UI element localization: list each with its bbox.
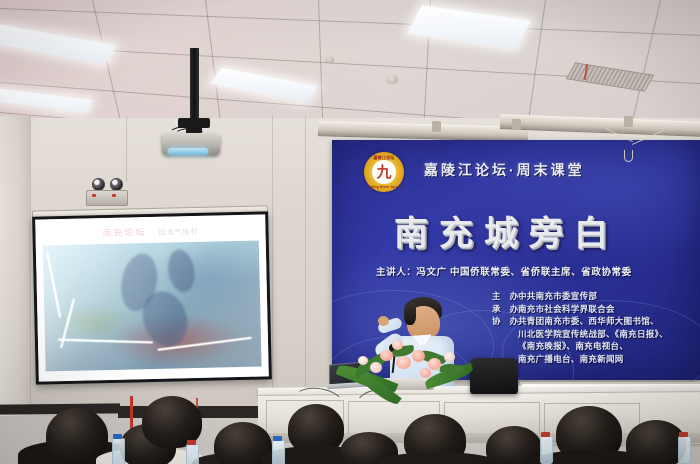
road-line <box>46 253 61 318</box>
wall-column <box>0 116 30 416</box>
slide: 南充论坛回龙气候村 <box>35 214 269 381</box>
water-bottle[interactable] <box>112 438 125 464</box>
banner-speaker-line: 主讲人：冯文广 中国侨联常委、省侨联主席、省政协常委 <box>376 264 632 278</box>
speaker-hair-side <box>404 303 416 325</box>
logo-arc-bottom: Jialing River forum <box>364 185 404 189</box>
wall-seam <box>272 116 273 416</box>
banner-header-line: 嘉陵江论坛·周末课堂 <box>424 160 585 180</box>
flower-bloom <box>392 340 403 350</box>
emergency-indicator <box>112 194 116 197</box>
organizer-row: 协 办：共青团南充市委、西华师大图书馆、 <box>492 315 668 328</box>
banner-hook <box>624 150 633 162</box>
slide-title-text: 南充论坛 <box>102 227 146 238</box>
track-bracket <box>432 121 441 132</box>
banner-organizers: 主 办：中共南充市委宣传部 承 办：南充市社会科学界联合会 协 办：共青团南充市… <box>492 290 668 365</box>
sprinkler-head <box>325 56 334 63</box>
lecture-hall-photo: 南充论坛回龙气候村 嘉陵江论坛 <box>0 0 700 464</box>
forum-logo: 嘉陵江论坛 九 Jialing River forum <box>364 152 404 192</box>
wall-seam <box>126 116 127 182</box>
flower-bloom <box>380 350 393 361</box>
road-line <box>58 339 153 344</box>
organizer-value: 共青团南充市委、西华师大图书馆、 <box>518 316 659 326</box>
flower-bloom <box>412 350 425 362</box>
water-bottle[interactable] <box>272 440 285 464</box>
speaker-hand <box>378 316 389 326</box>
sprinkler-head <box>386 75 398 84</box>
bottle-cap <box>113 434 122 439</box>
organizer-row: 主 办：中共南充市委宣传部 <box>492 290 668 303</box>
bottle-cap <box>187 440 196 445</box>
audience-head <box>626 420 686 464</box>
bottle-cap <box>273 436 282 441</box>
organizer-row: 承 办：南充市社会科学界联合会 <box>492 303 668 316</box>
organizer-continued-row: 《南充晚报》、南充电视台、 <box>492 340 668 353</box>
river-shape <box>165 248 198 295</box>
bottle-cap <box>679 432 688 437</box>
flower-bloom <box>444 352 455 362</box>
organizer-label: 主 办： <box>492 290 518 303</box>
emergency-indicator <box>92 194 96 197</box>
organizer-label: 协 办： <box>492 315 518 328</box>
flower-bloom <box>420 368 431 378</box>
flower-bloom <box>428 358 441 370</box>
organizer-continued-row: 川北医学院宣传统战部、《南充日报》、 <box>492 328 668 341</box>
logo-glyph: 九 <box>376 165 391 180</box>
projection-screen-surface: 南充论坛回龙气候村 <box>35 214 269 381</box>
projector-lens <box>168 148 208 155</box>
organizer-continued-row: 南充广播电台、南充新闻网 <box>492 353 668 366</box>
water-bottle[interactable] <box>678 436 691 464</box>
slide-photo <box>43 240 262 371</box>
slide-subtitle-text: 回龙气候村 <box>158 229 198 237</box>
organizer-value: 南充市社会科学界联合会 <box>518 304 615 314</box>
logo-center: 九 <box>372 160 395 183</box>
flower-bloom <box>396 356 411 369</box>
bottle-cap <box>541 432 550 437</box>
projection-screen-frame[interactable]: 南充论坛回龙气候村 <box>32 211 272 384</box>
water-bottle[interactable] <box>186 444 199 464</box>
projector-pole <box>190 48 199 120</box>
organizer-continued-text: 川北医学院宣传统战部、《南充日报》、 <box>518 329 668 339</box>
flower-bloom <box>370 362 382 373</box>
flower-bloom <box>358 356 368 365</box>
organizer-value: 中共南充市委宣传部 <box>518 291 597 301</box>
banner-main-title: 南充城旁白 <box>394 206 619 255</box>
wall-seam <box>30 116 31 416</box>
track-bracket <box>624 116 633 127</box>
stage-chair[interactable] <box>470 358 518 394</box>
wall-seam <box>305 116 306 416</box>
projector-cable <box>174 128 206 143</box>
organizer-continued-text: 《南充晚报》、南充电视台、 <box>518 341 628 351</box>
organizer-continued-text: 南充广播电台、南充新闻网 <box>518 354 624 364</box>
water-bottle[interactable] <box>540 436 553 464</box>
slide-title: 南充论坛回龙气候村 <box>35 223 265 241</box>
ceiling <box>0 0 700 132</box>
logo-arc-top: 嘉陵江论坛 <box>364 155 404 161</box>
organizer-label: 承 办： <box>492 303 518 316</box>
emergency-light-unit <box>86 190 128 206</box>
track-bracket <box>512 119 521 130</box>
